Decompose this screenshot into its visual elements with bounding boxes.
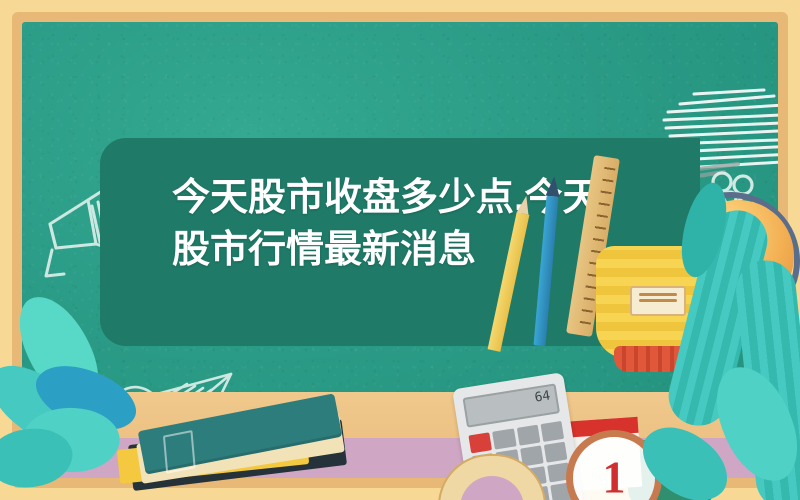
calculator-key [468,432,492,453]
pencil [488,212,530,352]
calculator-display: 64 [463,383,561,427]
calculator-key [516,425,540,446]
calculator-key [492,428,516,449]
stationery-cluster: 64 1 [470,190,800,500]
paintbrush [533,196,558,346]
plant-bottom-left [24,288,204,478]
calculator-key [544,441,568,462]
backpack-name-tag [630,286,686,316]
cover-image-stage: 今天股市收盘多少点,今天 股市行情最新消息 [0,0,800,500]
magnifier-number: 1 [603,450,626,500]
calculator-key [540,421,564,442]
